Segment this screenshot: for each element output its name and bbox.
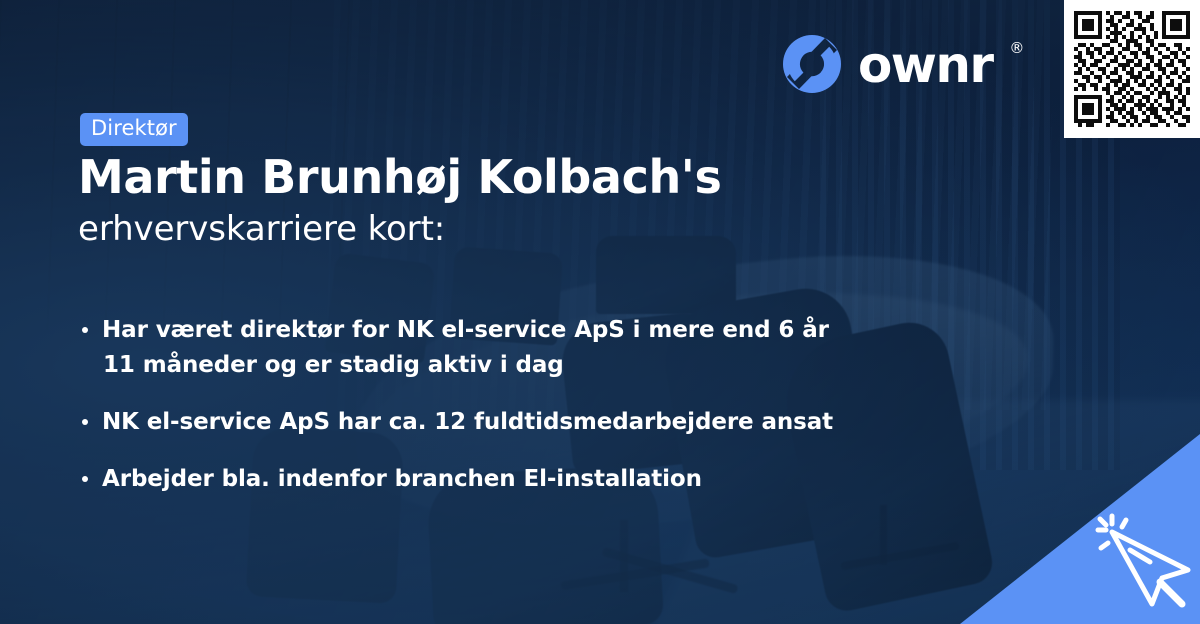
- role-badge: Direktør: [80, 113, 188, 146]
- person-name: Martin Brunhøj Kolbach's: [78, 153, 1038, 203]
- list-item: Har været direktør for NK el-service ApS…: [80, 313, 960, 383]
- fact-line-1: NK el-service ApS har ca. 12 fuldtidsmed…: [102, 409, 833, 435]
- fact-line-1: Har været direktør for NK el-service ApS…: [102, 317, 829, 343]
- list-item: NK el-service ApS har ca. 12 fuldtidsmed…: [80, 405, 960, 440]
- bullet-icon: [82, 476, 88, 482]
- qr-code-icon[interactable]: [1074, 10, 1190, 128]
- list-item: Arbejder bla. indenfor branchen El-insta…: [80, 462, 960, 497]
- bullet-icon: [82, 327, 88, 333]
- career-card: Direktør Martin Brunhøj Kolbach's erhver…: [0, 0, 1200, 624]
- ownr-circular-swoosh-logo-icon: [781, 33, 843, 95]
- headline-subtitle: erhvervskarriere kort:: [78, 209, 1038, 249]
- registered-trademark-icon: ®: [1009, 41, 1024, 56]
- qr-code-panel[interactable]: [1064, 0, 1200, 138]
- ownr-logo: ownr ®: [781, 33, 1022, 95]
- fact-line-2: 11 måneder og er stadig aktiv i dag: [102, 348, 960, 383]
- headline-block: Martin Brunhøj Kolbach's erhvervskarrier…: [78, 153, 1038, 249]
- facts-list: Har været direktør for NK el-service ApS…: [80, 313, 960, 497]
- bullet-icon: [82, 419, 88, 425]
- fact-line-1: Arbejder bla. indenfor branchen El-insta…: [102, 466, 702, 492]
- card-content: Direktør Martin Brunhøj Kolbach's erhver…: [0, 0, 1200, 624]
- click-cursor-icon: [1090, 508, 1194, 612]
- ownr-wordmark: ownr: [858, 40, 992, 90]
